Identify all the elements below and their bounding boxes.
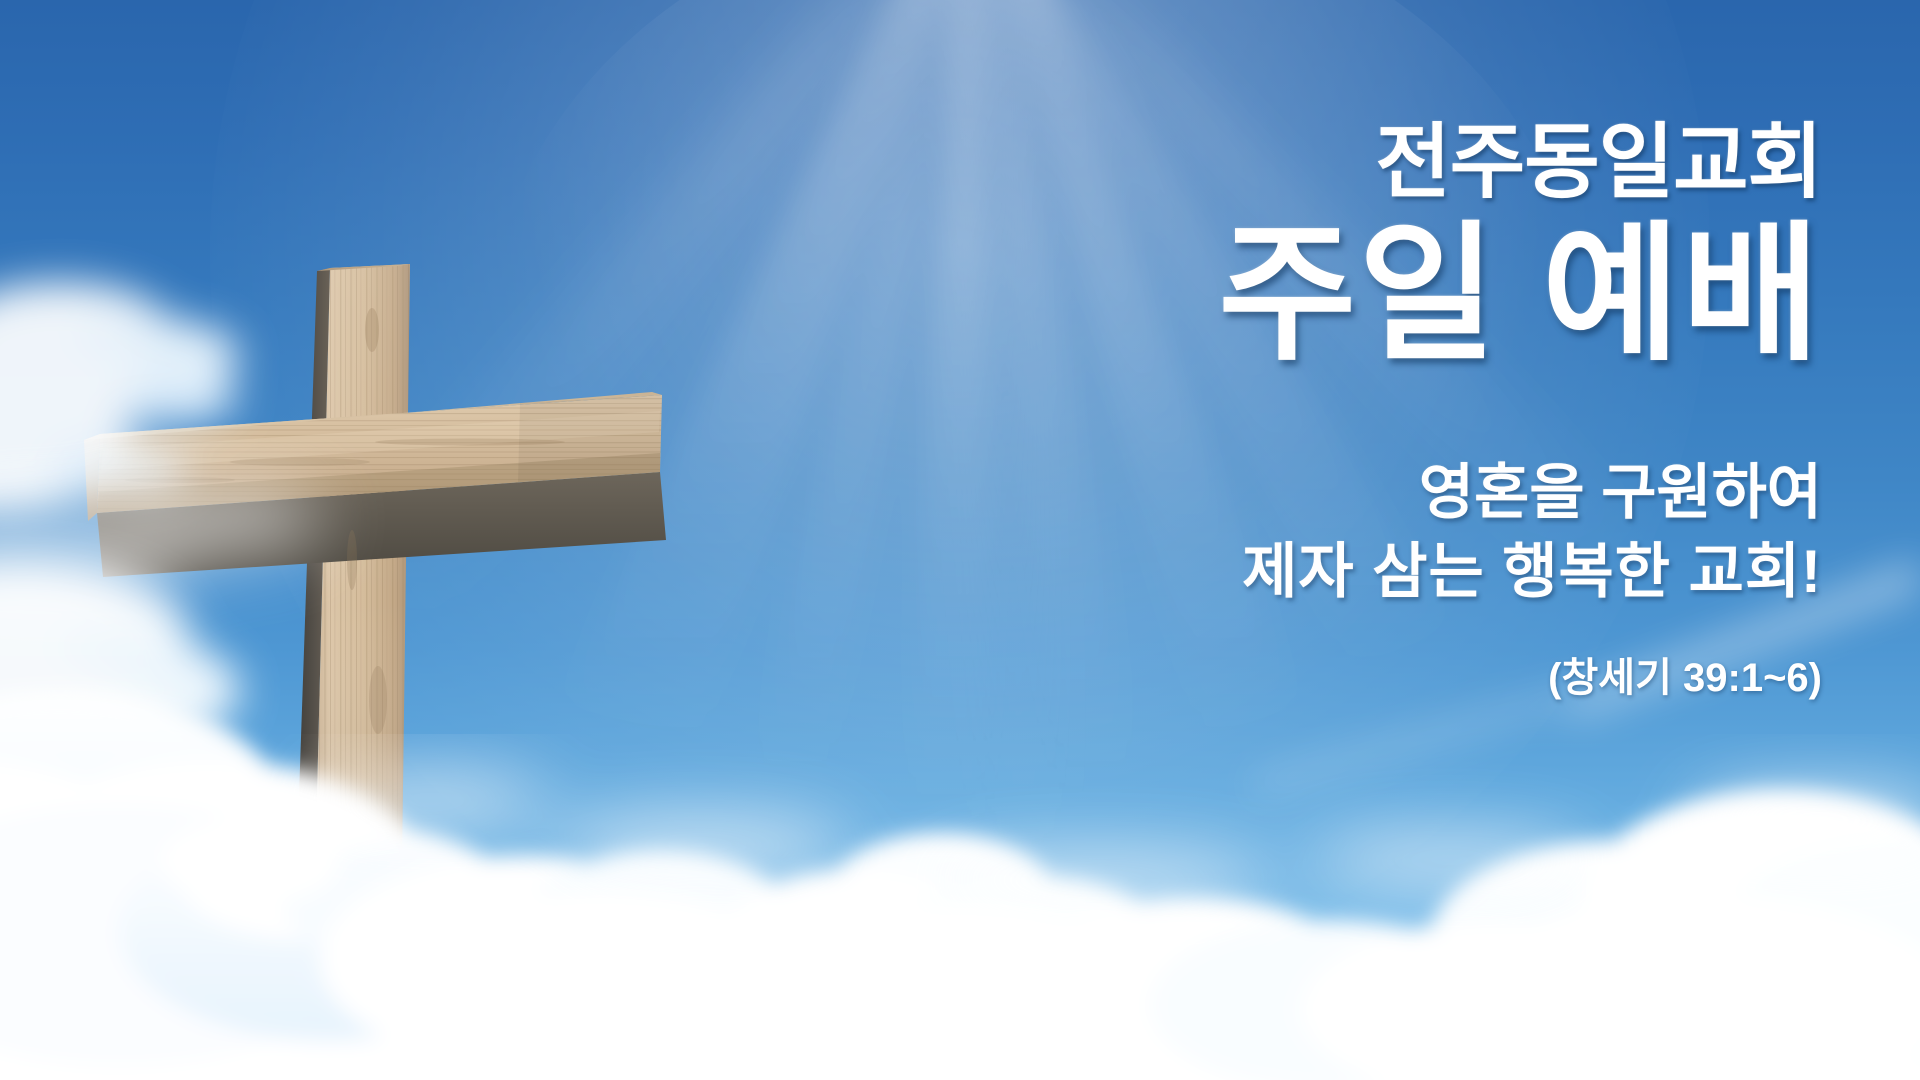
banner-text-block: 전주동일교회 주일 예배 영혼을 구원하여 제자 삼는 행복한 교회! (창세기… — [982, 120, 1822, 703]
banner-canvas: 전주동일교회 주일 예배 영혼을 구원하여 제자 삼는 행복한 교회! (창세기… — [0, 0, 1920, 1080]
service-title: 주일 예배 — [982, 213, 1822, 375]
slogan-line-1: 영혼을 구원하여 — [982, 453, 1822, 532]
church-name: 전주동일교회 — [982, 120, 1822, 207]
slogan: 영혼을 구원하여 제자 삼는 행복한 교회! — [982, 453, 1822, 611]
verse-reference: (창세기 39:1~6) — [982, 645, 1822, 703]
slogan-line-2: 제자 삼는 행복한 교회! — [982, 532, 1822, 611]
